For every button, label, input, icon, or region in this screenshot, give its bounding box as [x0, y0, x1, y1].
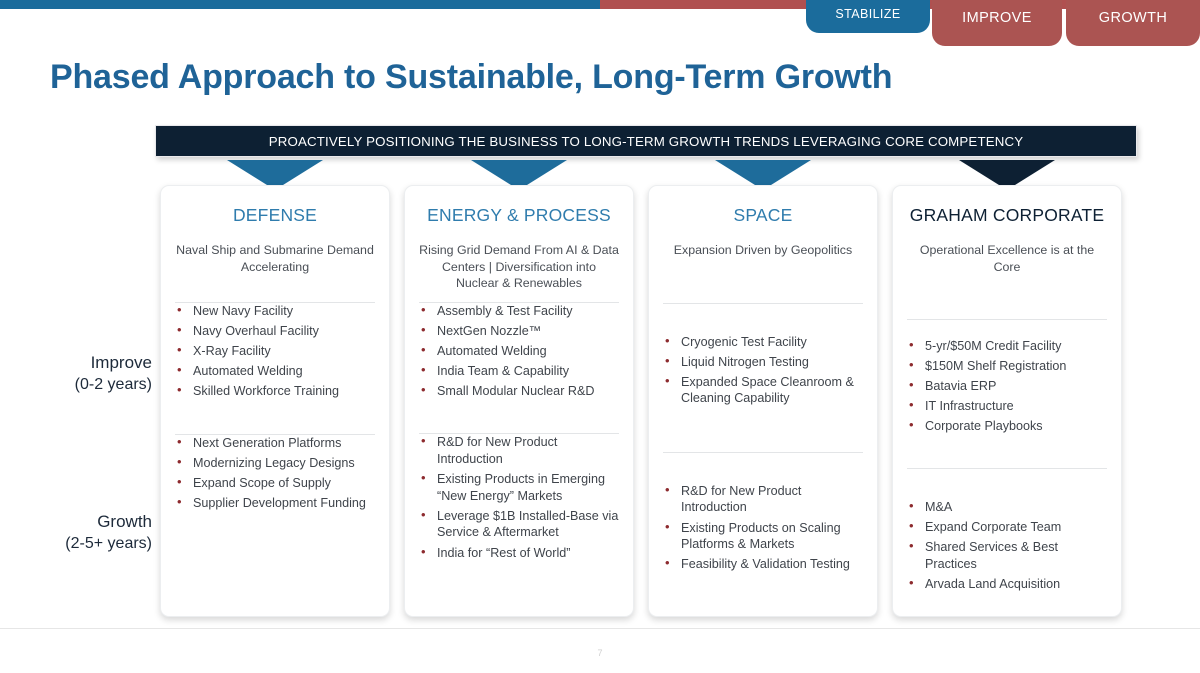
improve-list: New Navy FacilityNavy Overhaul FacilityX… [161, 303, 389, 400]
card-subtitle: Expansion Driven by Geopolitics [649, 226, 877, 259]
tab-stabilize-label: STABILIZE [835, 0, 900, 21]
headline-banner: PROACTIVELY POSITIONING THE BUSINESS TO … [155, 125, 1137, 157]
row-label-growth-timeframe: (2-5+ years) [65, 533, 152, 555]
page-number: 7 [0, 648, 1200, 658]
column-card-energy-process[interactable]: ENERGY & PROCESS Rising Grid Demand From… [404, 185, 634, 617]
improve-list: Cryogenic Test FacilityLiquid Nitrogen T… [649, 304, 877, 407]
list-item: New Navy Facility [175, 303, 377, 320]
list-item: Automated Welding [175, 363, 377, 380]
card-subtitle: Operational Excellence is at the Core [893, 226, 1121, 275]
list-item: Cryogenic Test Facility [663, 334, 865, 351]
phase-tabs: STABILIZE IMPROVE GROWTH [806, 0, 1200, 46]
list-item: Navy Overhaul Facility [175, 323, 377, 340]
growth-list: M&AExpand Corporate TeamShared Services … [893, 469, 1121, 592]
list-item: X-Ray Facility [175, 343, 377, 360]
list-item: Expand Scope of Supply [175, 475, 377, 492]
tab-improve-label: IMPROVE [962, 0, 1032, 26]
row-label-growth: Growth (2-5+ years) [65, 511, 152, 555]
list-item: Feasibility & Validation Testing [663, 556, 865, 573]
column-card-graham-corporate[interactable]: GRAHAM CORPORATE Operational Excellence … [892, 185, 1122, 617]
list-item: Existing Products on Scaling Platforms &… [663, 520, 865, 553]
row-label-growth-name: Growth [65, 511, 152, 533]
list-item: Assembly & Test Facility [419, 303, 621, 320]
list-item: M&A [907, 499, 1109, 516]
tab-stabilize[interactable]: STABILIZE [806, 0, 930, 33]
list-item: Leverage $1B Installed-Base via Service … [419, 508, 621, 541]
list-item: Liquid Nitrogen Testing [663, 354, 865, 371]
list-item: Modernizing Legacy Designs [175, 455, 377, 472]
row-label-improve-timeframe: (0-2 years) [75, 374, 152, 396]
list-item: Batavia ERP [907, 378, 1109, 395]
list-item: R&D for New Product Introduction [419, 434, 621, 467]
list-item: R&D for New Product Introduction [663, 483, 865, 516]
list-item: India Team & Capability [419, 363, 621, 380]
improve-list: 5-yr/$50M Credit Facility$150M Shelf Reg… [893, 320, 1121, 435]
list-item: Next Generation Platforms [175, 435, 377, 452]
tab-improve[interactable]: IMPROVE [932, 0, 1062, 46]
list-item: IT Infrastructure [907, 398, 1109, 415]
improve-list: Assembly & Test FacilityNextGen Nozzle™A… [405, 303, 633, 400]
list-item: India for “Rest of World” [419, 545, 621, 562]
tab-growth-label: GROWTH [1099, 0, 1167, 26]
tab-growth[interactable]: GROWTH [1066, 0, 1200, 46]
list-item: $150M Shelf Registration [907, 358, 1109, 375]
list-item: Arvada Land Acquisition [907, 576, 1109, 593]
list-item: Expand Corporate Team [907, 519, 1109, 536]
list-item: Corporate Playbooks [907, 418, 1109, 435]
growth-list: Next Generation PlatformsModernizing Leg… [161, 435, 389, 512]
card-heading: DEFENSE [161, 186, 389, 226]
growth-list: R&D for New Product IntroductionExisting… [649, 453, 877, 573]
top-bar-blue-segment [0, 0, 600, 9]
column-card-defense[interactable]: DEFENSE Naval Ship and Submarine Demand … [160, 185, 390, 617]
row-label-improve-name: Improve [75, 352, 152, 374]
list-item: NextGen Nozzle™ [419, 323, 621, 340]
growth-list: R&D for New Product IntroductionExisting… [405, 434, 633, 561]
list-item: Expanded Space Cleanroom & Cleaning Capa… [663, 374, 865, 407]
list-item: Automated Welding [419, 343, 621, 360]
card-heading: SPACE [649, 186, 877, 226]
list-item: Skilled Workforce Training [175, 383, 377, 400]
card-heading: GRAHAM CORPORATE [893, 186, 1121, 226]
list-item: Existing Products in Emerging “New Energ… [419, 471, 621, 504]
card-subtitle: Rising Grid Demand From AI & Data Center… [405, 226, 633, 292]
list-item: 5-yr/$50M Credit Facility [907, 338, 1109, 355]
footer-divider [0, 628, 1200, 629]
list-item: Small Modular Nuclear R&D [419, 383, 621, 400]
banner-container: PROACTIVELY POSITIONING THE BUSINESS TO … [155, 125, 1137, 157]
list-item: Shared Services & Best Practices [907, 539, 1109, 572]
page-title: Phased Approach to Sustainable, Long-Ter… [50, 58, 892, 97]
card-heading: ENERGY & PROCESS [405, 186, 633, 226]
list-item: Supplier Development Funding [175, 495, 377, 512]
card-subtitle: Naval Ship and Submarine Demand Accelera… [161, 226, 389, 275]
row-label-improve: Improve (0-2 years) [75, 352, 152, 396]
column-card-space[interactable]: SPACE Expansion Driven by Geopolitics Cr… [648, 185, 878, 617]
